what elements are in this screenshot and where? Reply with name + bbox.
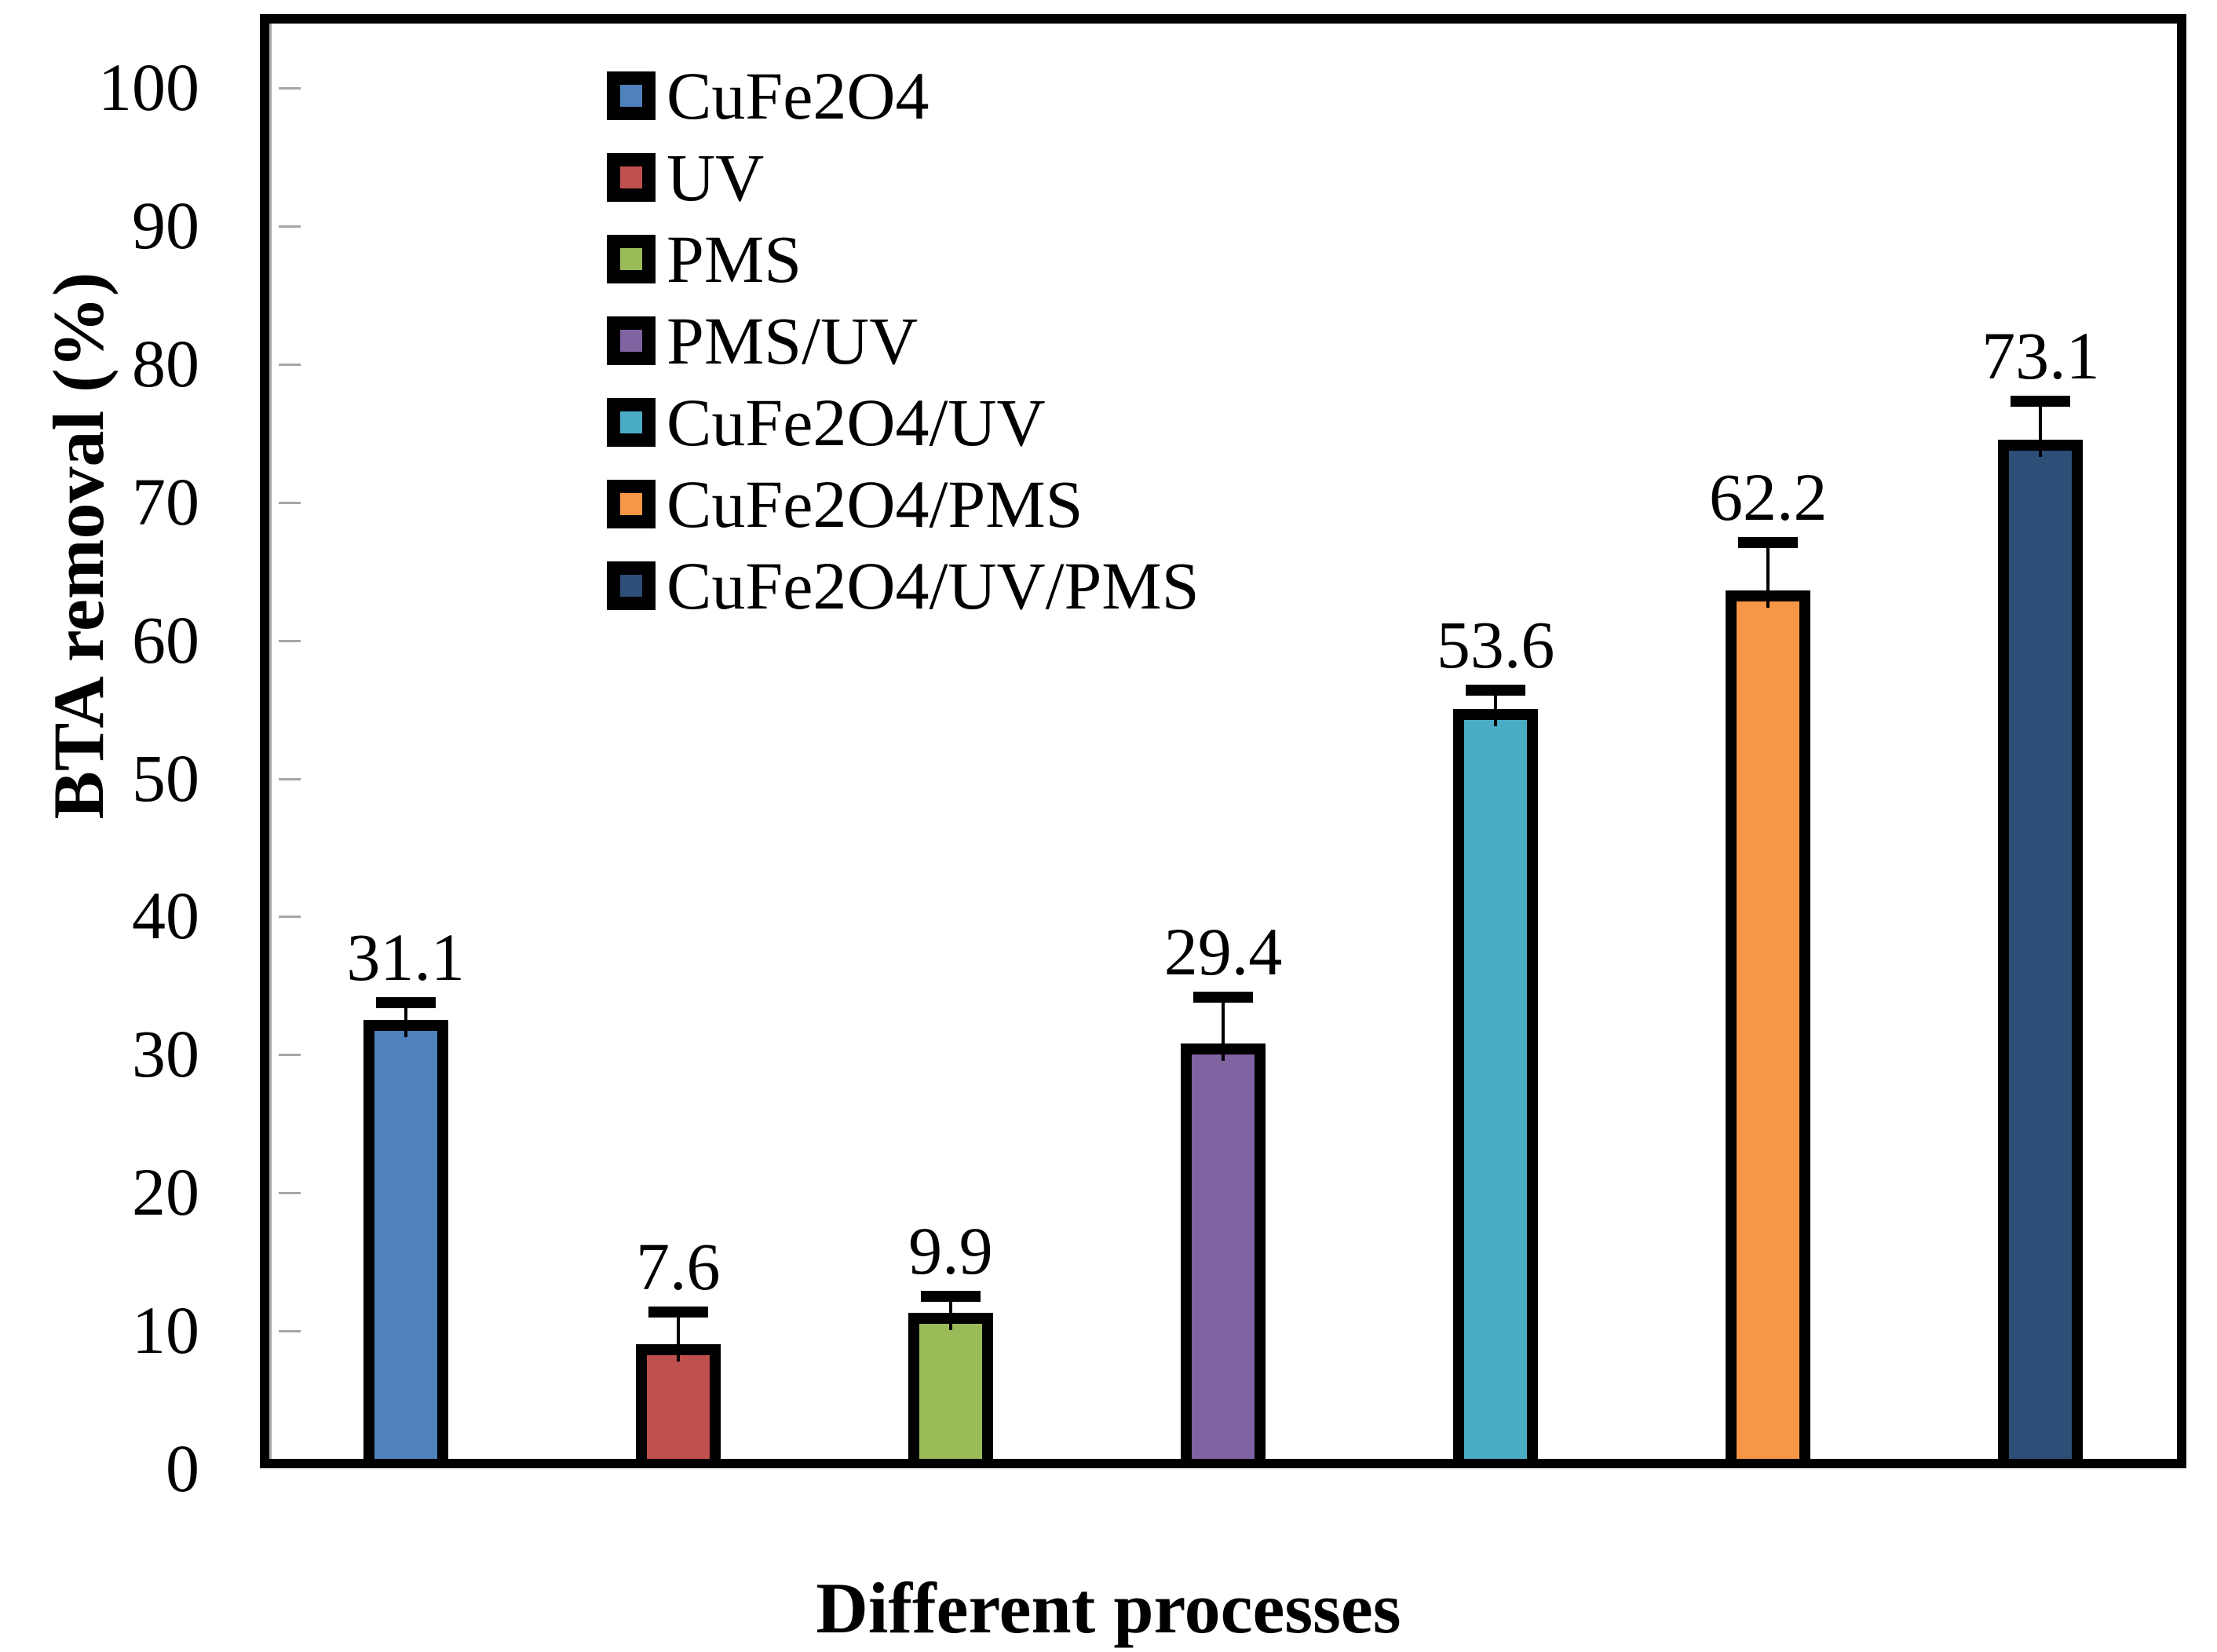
y-tick-label-90: 90: [0, 192, 199, 259]
data-label-CuFe2O4/UV/PMS: 73.1: [1923, 322, 2158, 389]
bar-CuFe2O4[interactable]: [363, 1020, 448, 1459]
error-bar-CuFe2O4: [404, 1008, 407, 1037]
bar-CuFe2O4/UV[interactable]: [1453, 709, 1538, 1459]
legend-label: PMS: [667, 225, 802, 293]
error-bar-CuFe2O4/PMS: [1766, 548, 1770, 608]
legend-label: CuFe2O4/UV/PMS: [667, 552, 1200, 619]
legend-label: CuFe2O4/PMS: [667, 470, 1083, 538]
error-cap-UV: [648, 1307, 708, 1318]
legend-swatch-icon: [607, 398, 656, 447]
legend-label: UV: [667, 144, 764, 211]
bar-CuFe2O4/UV/PMS[interactable]: [1998, 440, 2083, 1459]
error-cap-CuFe2O4/PMS: [1738, 537, 1798, 548]
data-label-PMS: 9.9: [833, 1217, 1068, 1285]
y-tick-label-60: 60: [0, 606, 199, 674]
y-tick-label-30: 30: [0, 1020, 199, 1087]
legend-item-PMS/UV[interactable]: PMS/UV: [607, 300, 1706, 382]
y-tick-label-50: 50: [0, 744, 199, 812]
data-label-UV: 7.6: [561, 1233, 796, 1300]
legend-swatch-icon: [607, 71, 656, 120]
y-tick-label-70: 70: [0, 468, 199, 535]
data-label-CuFe2O4: 31.1: [288, 923, 524, 991]
error-cap-CuFe2O4/UV/PMS: [2011, 396, 2070, 407]
legend: CuFe2O4UVPMSPMS/UVCuFe2O4/UVCuFe2O4/PMSC…: [607, 55, 1706, 627]
legend-swatch-icon: [607, 480, 656, 528]
bar-PMS/UV[interactable]: [1181, 1043, 1266, 1459]
legend-swatch-icon: [607, 561, 656, 610]
y-tick-label-20: 20: [0, 1158, 199, 1226]
y-tick-label-80: 80: [0, 330, 199, 397]
legend-label: PMS/UV: [667, 307, 918, 375]
error-cap-PMS/UV: [1193, 992, 1253, 1003]
legend-swatch-icon: [607, 235, 656, 283]
error-cap-CuFe2O4/UV: [1466, 685, 1525, 696]
error-cap-PMS: [921, 1291, 981, 1302]
y-tick-label-100: 100: [0, 53, 199, 121]
legend-label: CuFe2O4/UV: [667, 389, 1046, 456]
legend-label: CuFe2O4: [667, 62, 929, 130]
error-bar-PMS: [949, 1302, 952, 1330]
y-tick-label-0: 0: [0, 1435, 199, 1502]
legend-item-PMS[interactable]: PMS: [607, 218, 1706, 300]
error-bar-CuFe2O4/UV/PMS: [2039, 407, 2042, 457]
x-axis-title: Different processes: [0, 1566, 2217, 1650]
y-tick-label-10: 10: [0, 1296, 199, 1364]
legend-item-CuFe2O4/PMS[interactable]: CuFe2O4/PMS: [607, 463, 1706, 545]
bar-chart-figure: BTA removal (%) 1009080706050403020100 3…: [0, 0, 2217, 1652]
error-bar-UV: [677, 1318, 680, 1362]
error-cap-CuFe2O4: [376, 997, 436, 1008]
y-tick-label-40: 40: [0, 882, 199, 949]
legend-swatch-icon: [607, 316, 656, 365]
error-bar-PMS/UV: [1222, 1003, 1225, 1061]
legend-swatch-icon: [607, 153, 656, 202]
bar-CuFe2O4/PMS[interactable]: [1726, 590, 1810, 1459]
bar-PMS[interactable]: [908, 1313, 993, 1459]
legend-item-CuFe2O4[interactable]: CuFe2O4: [607, 55, 1706, 137]
data-label-PMS/UV: 29.4: [1105, 918, 1341, 985]
legend-item-CuFe2O4/UV/PMS[interactable]: CuFe2O4/UV/PMS: [607, 545, 1706, 627]
legend-item-CuFe2O4/UV[interactable]: CuFe2O4/UV: [607, 382, 1706, 463]
legend-item-UV[interactable]: UV: [607, 137, 1706, 218]
plot-area: 31.17.69.929.453.662.273.1 CuFe2O4UVPMSP…: [260, 14, 2186, 1468]
error-bar-CuFe2O4/UV: [1494, 696, 1497, 726]
